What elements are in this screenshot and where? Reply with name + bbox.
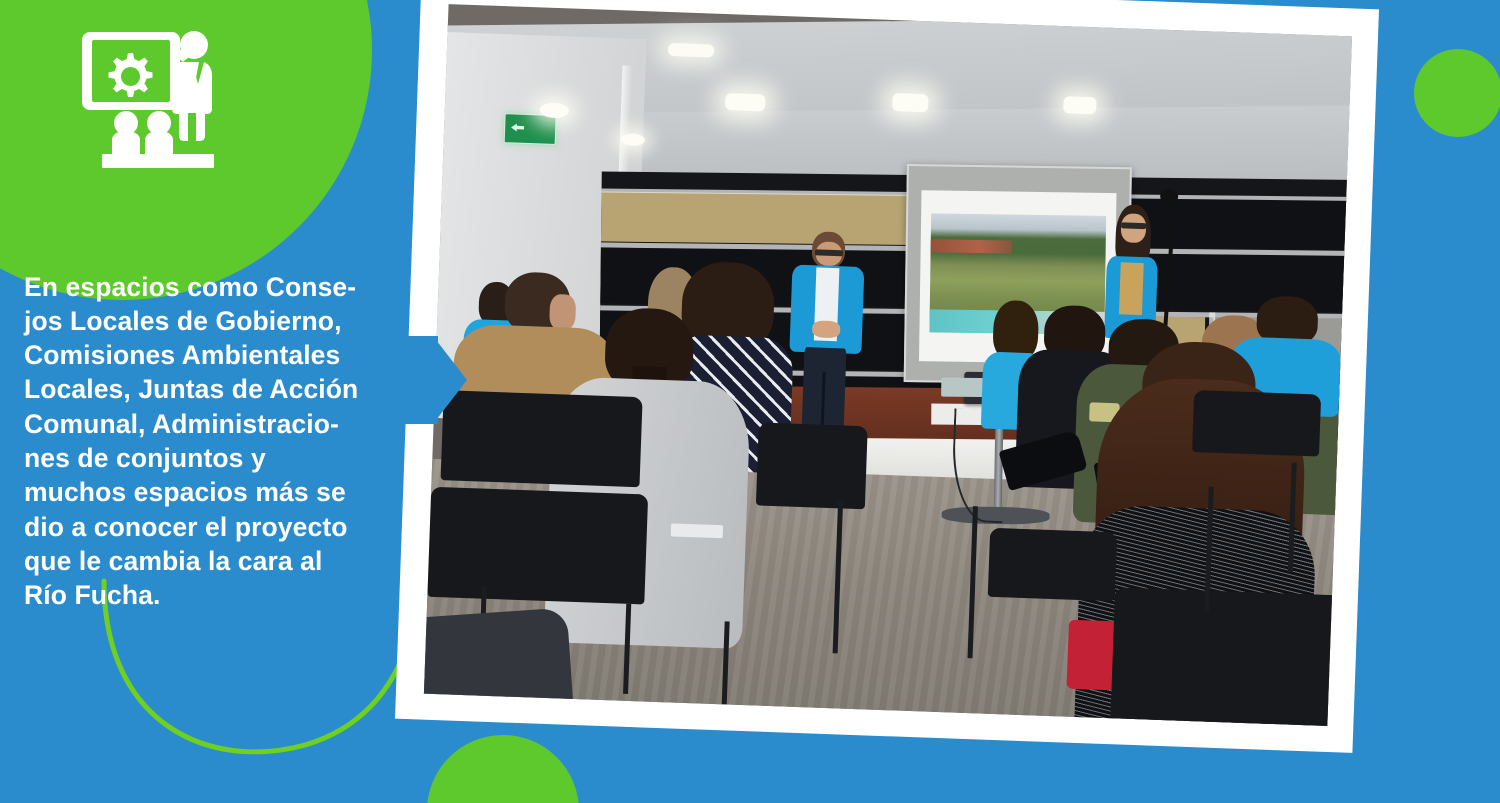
meeting-photo-card — [395, 0, 1379, 753]
microphone — [1160, 188, 1179, 204]
ceiling-light — [725, 93, 765, 111]
green-circle-small — [1414, 49, 1500, 137]
ceiling-light — [1063, 97, 1096, 115]
meeting-photo — [424, 4, 1352, 726]
chair — [427, 487, 648, 605]
chair — [1110, 587, 1350, 726]
presentation-training-icon — [82, 22, 222, 170]
auditorium-scene — [424, 4, 1352, 726]
chair — [988, 528, 1117, 601]
wall-panel — [601, 191, 928, 244]
poster-canvas: En espacios como Conse- jos Locales de G… — [0, 0, 1500, 803]
ceiling-light — [892, 93, 929, 112]
body-paragraph: En espacios como Conse- jos Locales de G… — [24, 270, 396, 613]
exit-sign — [503, 113, 557, 145]
chair — [1192, 390, 1321, 457]
chair — [441, 391, 643, 488]
ceiling-light — [540, 103, 569, 119]
bag — [424, 608, 573, 716]
blue-arrow-notch — [433, 336, 467, 424]
chair — [756, 423, 867, 510]
ceiling-light — [668, 43, 714, 58]
